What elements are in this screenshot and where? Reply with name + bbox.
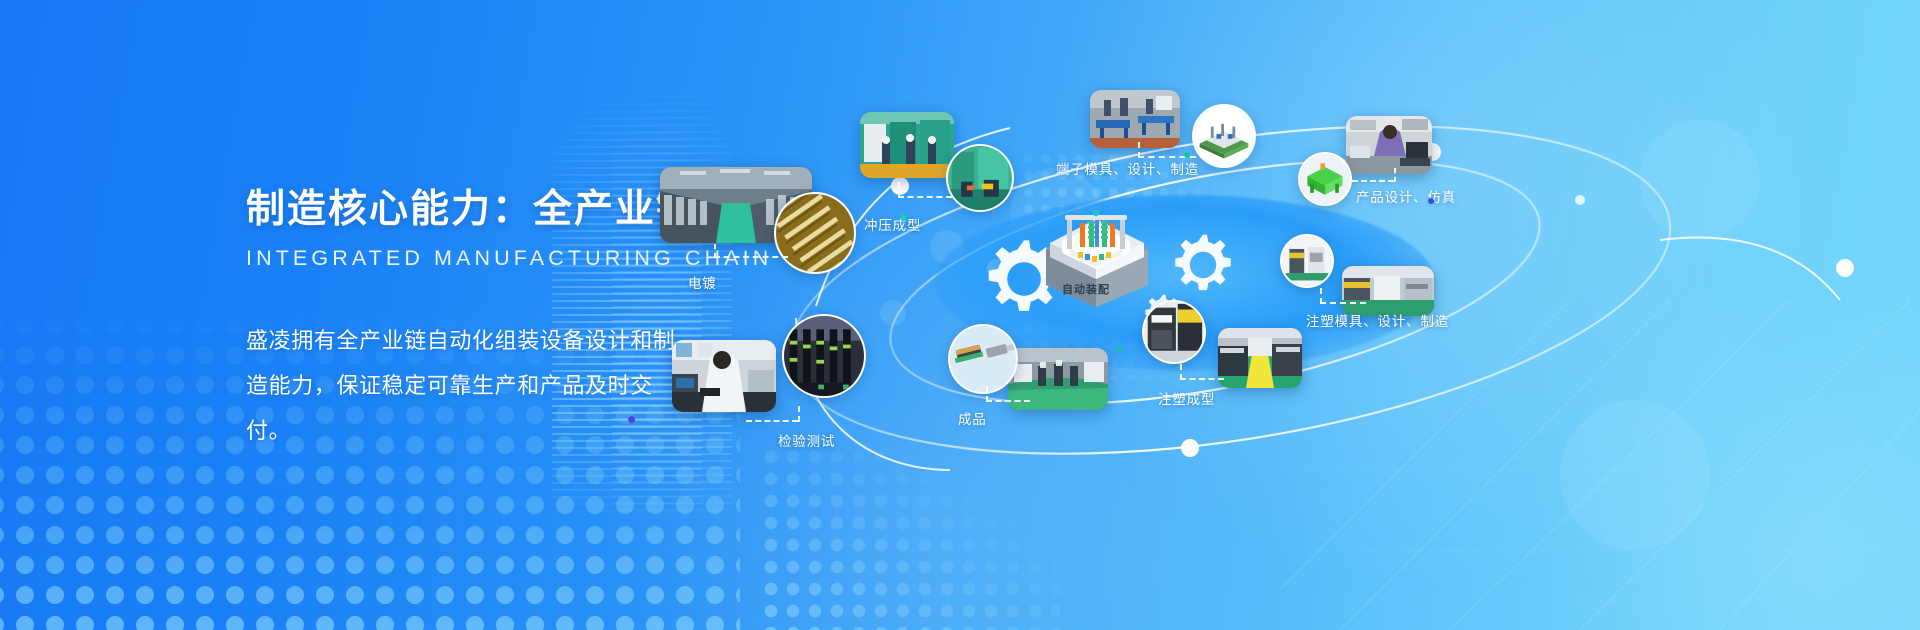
page-title: 制造核心能力：全产业链 [246,178,716,234]
connector-stamping [898,196,952,198]
node-stamping[interactable] [946,144,1014,212]
label-stamping: 冲压成型 [864,214,921,234]
connector-inspection-test [746,420,798,422]
page-description: 盛凌拥有全产业链自动化组装设备设计和制造能力，保证稳定可靠生产和产品及时交付。 [246,318,684,453]
decor-speck [628,416,635,423]
node-electroplating[interactable] [774,192,856,274]
label-injection-forming: 注塑成型 [1158,388,1215,408]
manufacturing-chain-banner: 制造核心能力：全产业链 INTEGRATED MANUFACTURING CHA… [0,0,1920,630]
connector-product-design [1352,180,1394,182]
label-finished-goods: 成品 [958,408,987,428]
node-injection-forming[interactable] [1142,300,1206,364]
label-injection-mold: 注塑模具、设计、制造 [1306,310,1449,330]
thumb-inspection-test [672,340,776,412]
page-subtitle: INTEGRATED MANUFACTURING CHAIN [246,246,716,271]
connector-electroplating-tick [714,244,716,258]
connector-injection-forming [1180,378,1224,380]
decor-speck [1184,152,1190,158]
node-injection-mold[interactable] [1280,234,1334,288]
thumb-product-design [1346,116,1432,174]
gear-icon-medium [1170,232,1236,298]
node-finished-goods[interactable] [948,324,1018,394]
connector-electroplating [714,256,788,258]
thumb-terminal-mold [1090,90,1180,148]
node-terminal-mold[interactable] [1192,104,1256,168]
connector-finished-goods-tick [986,386,988,402]
connector-terminal-mold-tick [1138,142,1140,158]
decor-speck [1116,346,1122,352]
connector-injection-mold-tick [1320,288,1322,304]
copy-block: 制造核心能力：全产业链 INTEGRATED MANUFACTURING CHA… [246,178,716,453]
label-inspection-test: 检验测试 [778,430,835,450]
machine-label: 自动装配 [1062,281,1110,297]
industry-chain-diagram: 自动装配 [760,0,1920,630]
label-electroplating: 电镀 [688,272,717,292]
connector-injection-mold [1320,302,1366,304]
decor-speck [1428,198,1434,204]
connector-stamping-tick [898,182,900,198]
label-product-design: 产品设计、仿真 [1356,186,1456,206]
label-terminal-mold: 端子模具、设计、制造 [1056,158,1199,178]
thumb-injection-mold [1342,266,1434,316]
thumb-stamping [860,112,954,178]
connector-product-design-tick [1394,168,1396,182]
thumb-injection-forming [1218,328,1302,388]
connector-inspection-test-tick [798,406,800,422]
node-product-design[interactable] [1298,152,1352,206]
decor-speck [900,214,907,221]
auto-assembly-machine: 自动装配 [1032,197,1160,313]
node-inspection-test[interactable] [782,314,866,398]
connector-finished-goods [986,400,1030,402]
connector-injection-forming-tick [1180,364,1182,380]
